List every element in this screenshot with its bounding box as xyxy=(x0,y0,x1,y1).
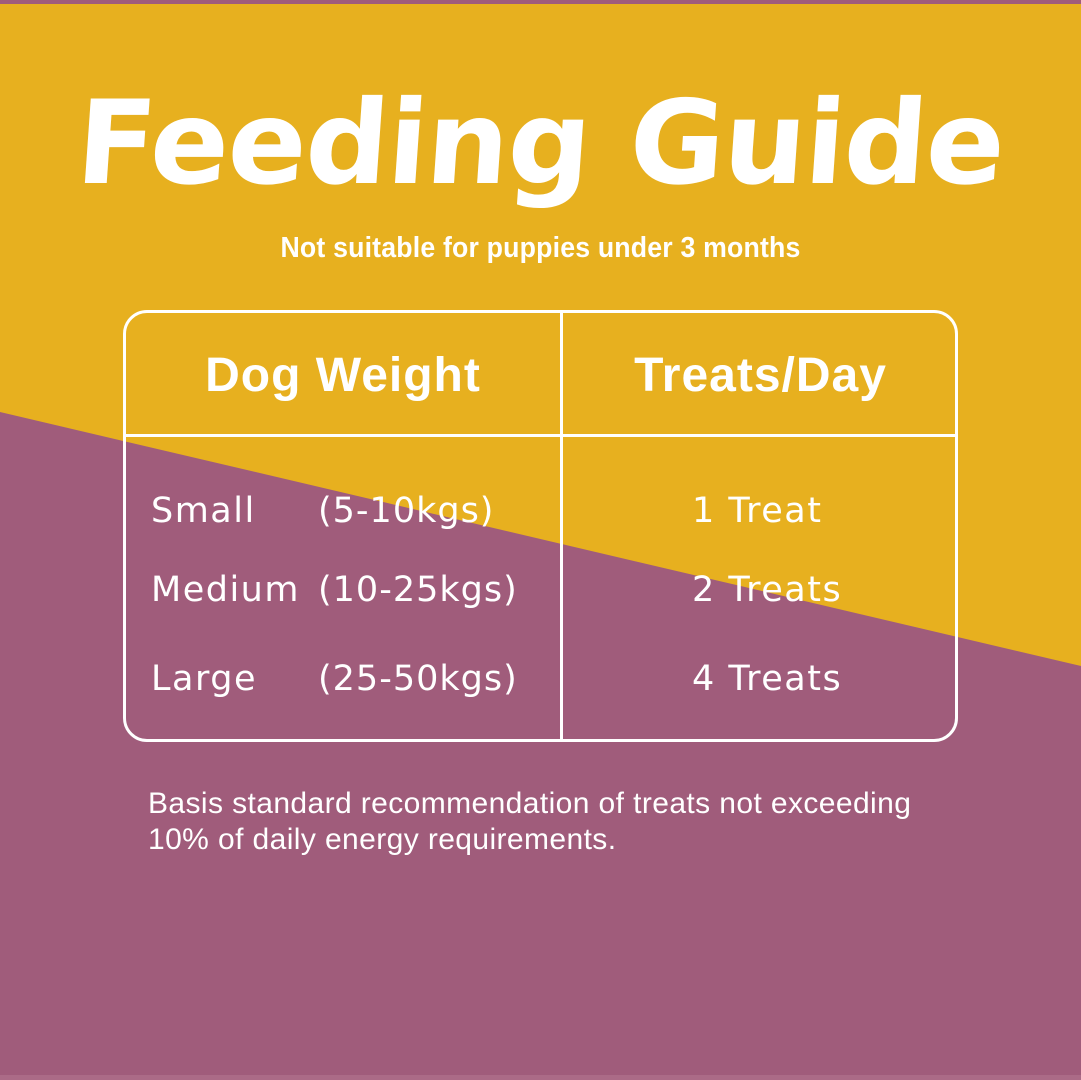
table-row: Medium (10-25kgs) 2 Treats xyxy=(126,570,955,610)
cell-weight-range: (25-50kgs) xyxy=(318,659,518,699)
cell-dog-size: Medium xyxy=(151,570,300,610)
cell-weight-range: (10-25kgs) xyxy=(318,570,518,610)
card-content: Feeding Guide Not suitable for puppies u… xyxy=(0,0,1081,1080)
table-header-treats-per-day: Treats/Day xyxy=(563,313,958,437)
feeding-table: Dog Weight Treats/Day Small (5-10kgs) 1 … xyxy=(123,310,958,742)
cell-dog-size: Small xyxy=(151,491,256,531)
cell-treats-per-day: 1 Treat xyxy=(692,491,822,531)
cell-dog-size: Large xyxy=(151,659,257,699)
table-row: Small (5-10kgs) 1 Treat xyxy=(126,491,955,531)
cell-treats-per-day: 4 Treats xyxy=(692,659,842,699)
footnote-text: Basis standard recommendation of treats … xyxy=(148,786,948,858)
page-subtitle: Not suitable for puppies under 3 months xyxy=(43,232,1038,265)
table-header-dog-weight: Dog Weight xyxy=(126,313,560,437)
cell-weight-range: (5-10kgs) xyxy=(318,491,494,531)
table-header-row: Dog Weight Treats/Day xyxy=(126,313,955,437)
cell-treats-per-day: 2 Treats xyxy=(692,570,842,610)
table-body: Small (5-10kgs) 1 Treat Medium (10-25kgs… xyxy=(126,437,955,739)
table-row: Large (25-50kgs) 4 Treats xyxy=(126,659,955,699)
feeding-guide-card: Feeding Guide Not suitable for puppies u… xyxy=(0,0,1081,1080)
page-title: Feeding Guide xyxy=(0,86,1081,202)
